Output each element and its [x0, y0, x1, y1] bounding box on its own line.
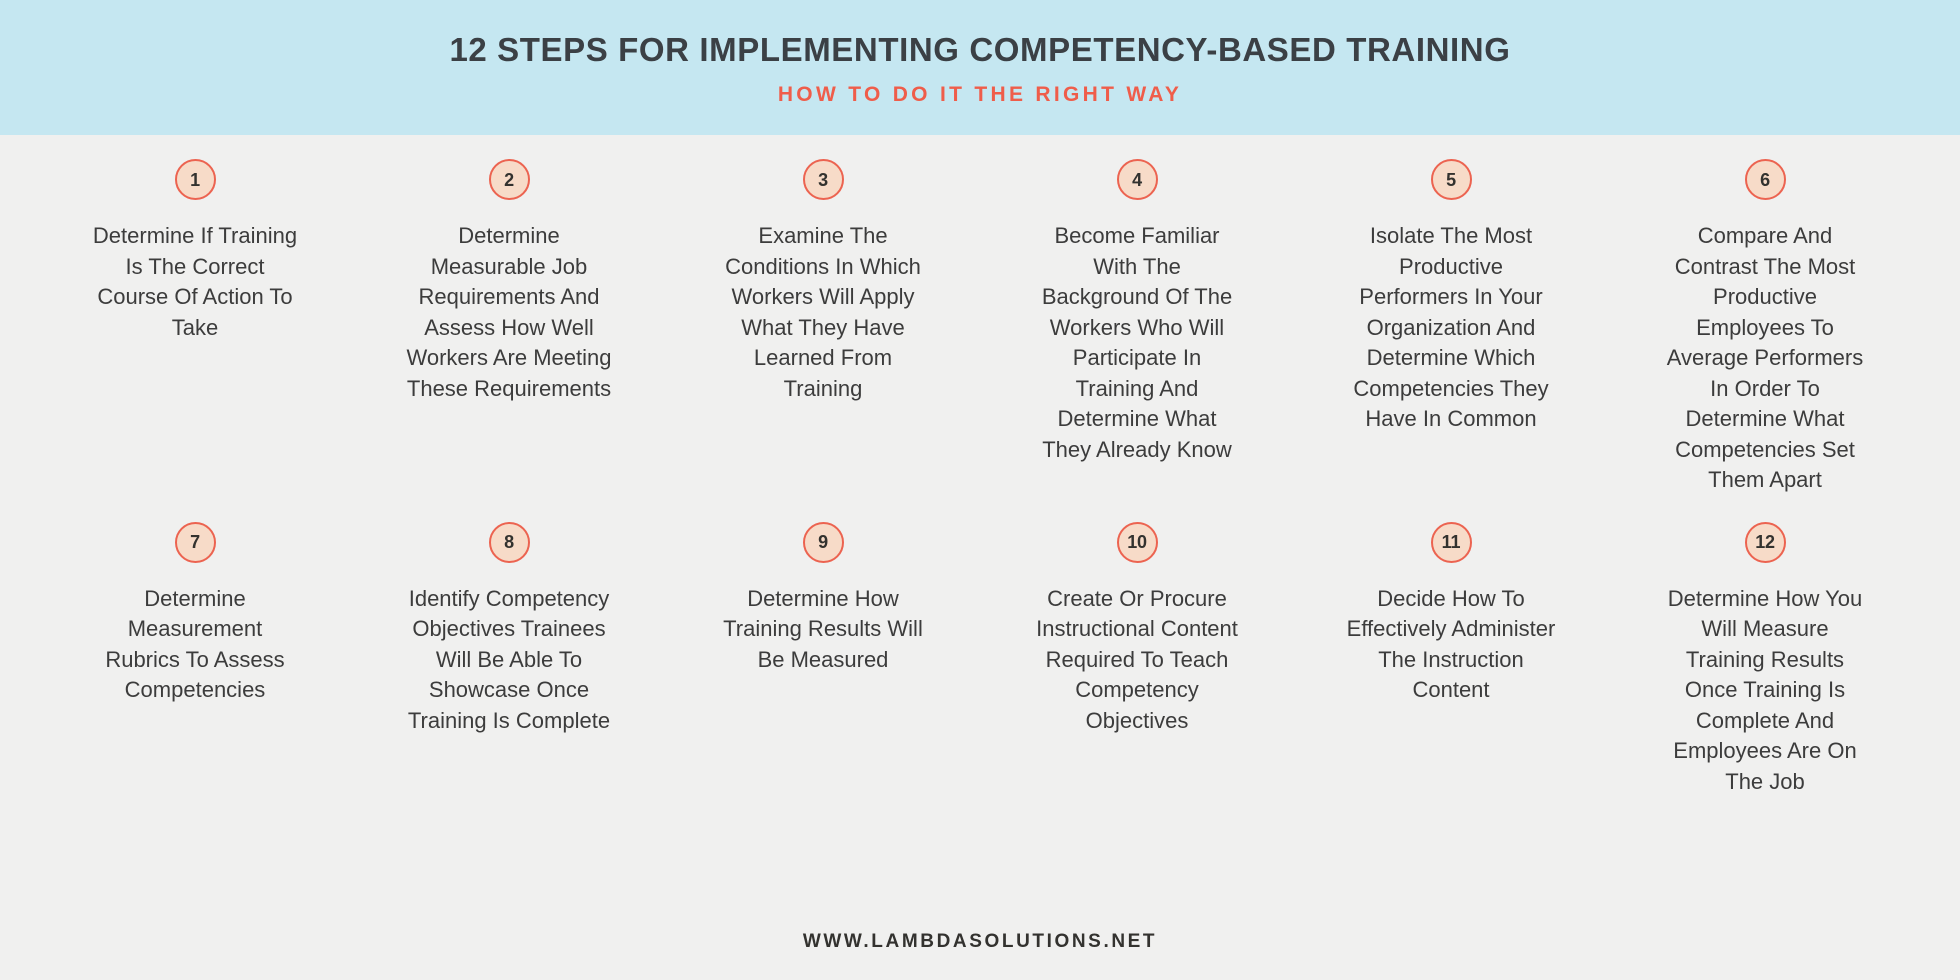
step-item-8: 8 Identify Competency Objectives Trainee… [358, 522, 660, 798]
steps-row-top: 1 Determine If Training Is The Correct C… [44, 159, 1916, 496]
steps-row-bottom: 7 Determine Measurement Rubrics To Asses… [44, 522, 1916, 798]
step-text-10: Create Or Procure Instructional Content … [1032, 584, 1242, 737]
step-number-1: 1 [190, 171, 200, 189]
step-item-11: 11 Decide How To Effectively Administer … [1300, 522, 1602, 798]
step-badge-9: 9 [803, 522, 844, 563]
step-text-5: Isolate The Most Productive Performers I… [1346, 221, 1556, 435]
step-text-3: Examine The Conditions In Which Workers … [718, 221, 928, 404]
steps-area: 1 Determine If Training Is The Correct C… [0, 135, 1960, 904]
step-item-10: 10 Create Or Procure Instructional Conte… [986, 522, 1288, 798]
step-text-6: Compare And Contrast The Most Productive… [1660, 221, 1870, 496]
step-item-6: 6 Compare And Contrast The Most Producti… [1614, 159, 1916, 496]
step-number-9: 9 [818, 533, 828, 551]
step-badge-5: 5 [1431, 159, 1472, 200]
step-number-11: 11 [1442, 533, 1461, 551]
step-badge-11: 11 [1431, 522, 1472, 563]
step-text-9: Determine How Training Results Will Be M… [718, 584, 928, 676]
step-text-11: Decide How To Effectively Administer The… [1346, 584, 1556, 706]
step-item-2: 2 Determine Measurable Job Requirements … [358, 159, 660, 496]
step-text-1: Determine If Training Is The Correct Cou… [90, 221, 300, 343]
step-number-8: 8 [504, 533, 514, 551]
step-badge-8: 8 [489, 522, 530, 563]
step-badge-4: 4 [1117, 159, 1158, 200]
page-subtitle: How To Do It The Right Way [778, 83, 1182, 107]
step-number-2: 2 [504, 171, 514, 189]
step-item-3: 3 Examine The Conditions In Which Worker… [672, 159, 974, 496]
step-badge-6: 6 [1745, 159, 1786, 200]
step-text-4: Become Familiar With The Background Of T… [1032, 221, 1242, 465]
step-text-8: Identify Competency Objectives Trainees … [404, 584, 614, 737]
step-item-5: 5 Isolate The Most Productive Performers… [1300, 159, 1602, 496]
step-number-3: 3 [818, 171, 828, 189]
infographic-poster: 12 Steps For Implementing Competency-Bas… [0, 0, 1960, 980]
step-number-5: 5 [1446, 171, 1456, 189]
step-badge-2: 2 [489, 159, 530, 200]
step-number-6: 6 [1760, 171, 1770, 189]
page-title: 12 Steps For Implementing Competency-Bas… [449, 32, 1510, 68]
step-number-10: 10 [1127, 533, 1147, 551]
step-item-12: 12 Determine How You Will Measure Traini… [1614, 522, 1916, 798]
step-item-4: 4 Become Familiar With The Background Of… [986, 159, 1288, 496]
step-item-1: 1 Determine If Training Is The Correct C… [44, 159, 346, 496]
step-badge-7: 7 [175, 522, 216, 563]
step-text-2: Determine Measurable Job Requirements An… [404, 221, 614, 404]
step-badge-12: 12 [1745, 522, 1786, 563]
step-badge-3: 3 [803, 159, 844, 200]
footer-website-url: WWW.LAMBDASOLUTIONS.NET [803, 931, 1157, 953]
step-text-7: Determine Measurement Rubrics To Assess … [90, 584, 300, 706]
step-number-4: 4 [1132, 171, 1142, 189]
header-band: 12 Steps For Implementing Competency-Bas… [0, 0, 1960, 135]
step-number-7: 7 [190, 533, 200, 551]
step-item-9: 9 Determine How Training Results Will Be… [672, 522, 974, 798]
step-text-12: Determine How You Will Measure Training … [1660, 584, 1870, 798]
footer: WWW.LAMBDASOLUTIONS.NET [0, 904, 1960, 980]
step-number-12: 12 [1755, 533, 1775, 551]
step-item-7: 7 Determine Measurement Rubrics To Asses… [44, 522, 346, 798]
step-badge-1: 1 [175, 159, 216, 200]
step-badge-10: 10 [1117, 522, 1158, 563]
